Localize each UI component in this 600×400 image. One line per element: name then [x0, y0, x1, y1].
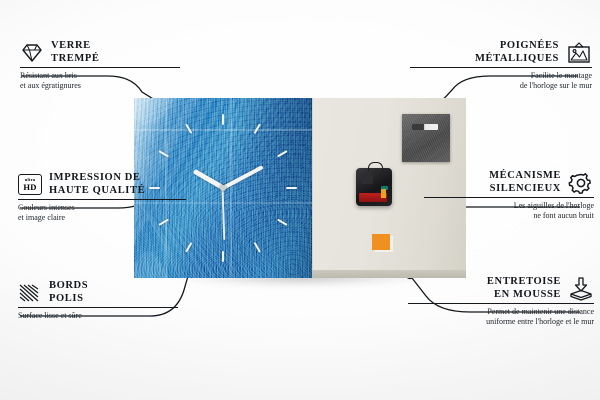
callout-title-line2: HAUTE QUALITÉ	[49, 185, 145, 198]
infographic-canvas: VERRE TREMPÉ Résistant aux bris et aux é…	[0, 0, 600, 400]
ultra-hd-icon-large-text: HD	[23, 183, 36, 192]
callout-verre-trempe: VERRE TREMPÉ Résistant aux bris et aux é…	[20, 40, 180, 91]
diamond-icon	[20, 43, 44, 63]
callout-desc-line1: Facilite le montage	[410, 71, 592, 81]
callout-desc-line1: Résistant aux bris	[20, 71, 180, 81]
callout-desc-line2: uniforme entre l'horloge et le mur	[408, 317, 594, 327]
mechanism-hook	[368, 162, 383, 171]
battery-positive-terminal	[381, 189, 386, 198]
polished-edges-icon	[18, 283, 42, 303]
callout-desc-line2: ne font aucun bruit	[424, 211, 594, 221]
callout-mecanisme-silencieux: MÉCANISME SILENCIEUX Les aiguilles de l'…	[424, 170, 594, 221]
callout-rule	[20, 67, 180, 68]
callout-title-line1: POIGNÉES	[475, 40, 559, 53]
callout-rule	[410, 67, 592, 68]
metal-hanger-plate	[402, 114, 450, 162]
callout-title-line2: MÉTALLIQUES	[475, 53, 559, 66]
callout-title-line2: TREMPÉ	[51, 53, 100, 66]
gear-icon	[568, 171, 594, 195]
hanging-frame-icon	[566, 42, 592, 64]
callout-desc-line1: Surface lisse et sûre	[18, 311, 178, 321]
callout-desc-line2: et image claire	[18, 213, 186, 223]
callout-rule	[18, 307, 178, 308]
ultra-hd-icon: ultra HD	[18, 174, 42, 195]
callout-desc-line2: et aux égratignures	[20, 81, 180, 91]
callout-desc-line1: Permet de maintenir une distance	[408, 307, 594, 317]
callout-title-line2: EN MOUSSE	[487, 289, 561, 302]
mechanism-detail	[361, 174, 373, 184]
hanger-slot	[412, 124, 438, 130]
callout-bords-polis: BORDS POLIS Surface lisse et sûre	[18, 280, 178, 321]
callout-title-line2: SILENCIEUX	[489, 183, 561, 196]
callout-title-line1: IMPRESSION DE	[49, 172, 145, 185]
clock-mechanism	[356, 168, 392, 206]
callout-poignees-metalliques: POIGNÉES MÉTALLIQUES Facilite le montage…	[410, 40, 592, 91]
callout-title-line1: BORDS	[49, 280, 88, 293]
clock-marker	[286, 187, 297, 189]
callout-desc-line1: Couleurs intenses	[18, 203, 186, 213]
callout-title-line1: ENTRETOISE	[487, 276, 561, 289]
callout-rule	[18, 199, 186, 200]
callout-rule	[424, 197, 594, 198]
callout-entretoise-en-mousse: ENTRETOISE EN MOUSSE Permet de maintenir…	[408, 276, 594, 327]
callout-title-line2: POLIS	[49, 293, 88, 306]
callout-desc-line2: de l'horloge sur le mur	[410, 81, 592, 91]
foam-spacer-icon	[568, 277, 594, 301]
callout-title-line1: VERRE	[51, 40, 100, 53]
callout-rule	[408, 303, 594, 304]
foam-spacer	[372, 234, 390, 250]
clock-marker	[222, 251, 224, 262]
callout-desc-line1: Les aiguilles de l'horloge	[424, 201, 594, 211]
battery	[359, 193, 387, 202]
callout-impression-haute-qualite: ultra HD IMPRESSION DE HAUTE QUALITÉ Cou…	[18, 172, 186, 223]
callout-title-line1: MÉCANISME	[489, 170, 561, 183]
clock-hand-cap	[220, 185, 226, 191]
clock-marker	[222, 114, 224, 125]
